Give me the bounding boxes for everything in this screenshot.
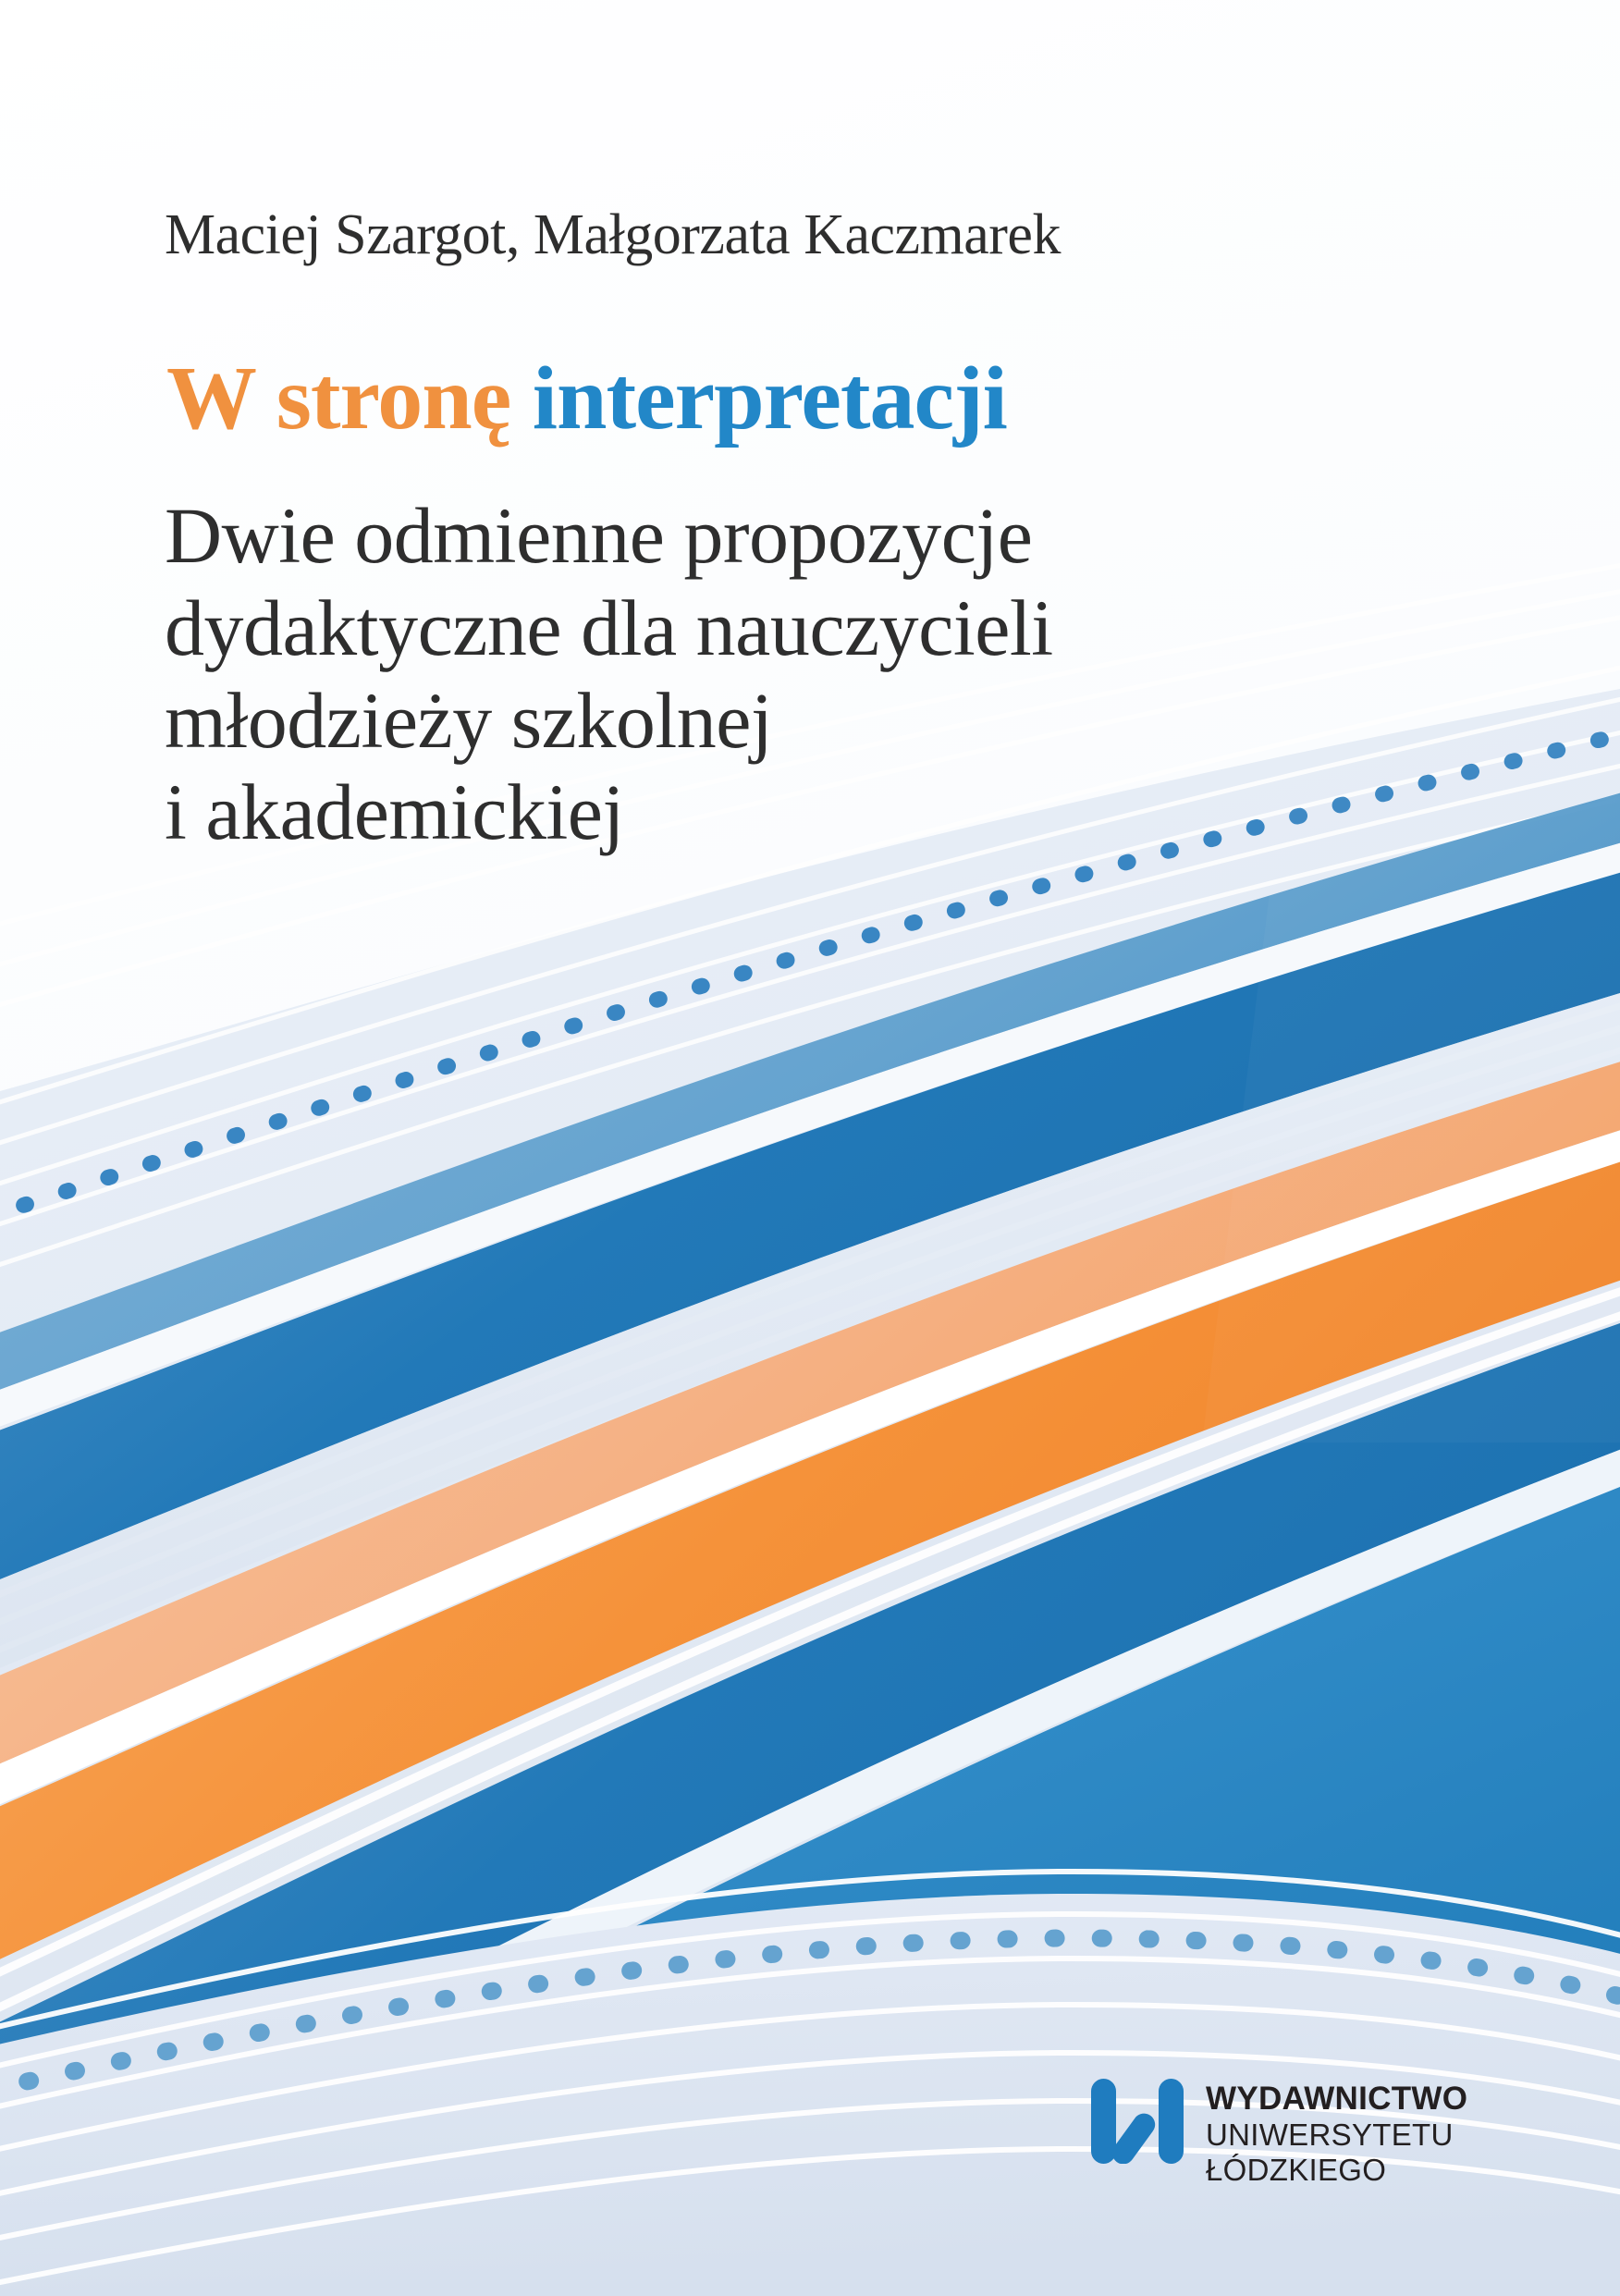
publisher-line-3: ŁÓDZKIEGO	[1206, 2153, 1467, 2188]
book-title: W stronę interpretacji	[166, 353, 1007, 444]
publisher-line-2: UNIWERSYTETU	[1206, 2118, 1467, 2153]
title-part-orange: W stronę	[166, 349, 510, 448]
publisher-name: WYDAWNICTWO UNIWERSYTETU ŁÓDZKIEGO	[1206, 2079, 1467, 2187]
subtitle-line-2: dydaktyczne dla nauczycieli	[165, 583, 1053, 675]
book-subtitle: Dwie odmienne propozycje dydaktyczne dla…	[165, 490, 1053, 859]
publisher-block: WYDAWNICTWO UNIWERSYTETU ŁÓDZKIEGO	[1089, 2079, 1467, 2187]
wydawnictwo-uniwersytetu-lodzkiego-logo-icon	[1089, 2079, 1185, 2164]
subtitle-line-3: młodzieży szkolnej	[165, 675, 1053, 767]
publisher-line-1: WYDAWNICTWO	[1206, 2081, 1467, 2118]
authors-line: Maciej Szargot, Małgorzata Kaczmarek	[165, 205, 1061, 265]
book-cover: Maciej Szargot, Małgorzata Kaczmarek W s…	[0, 0, 1620, 2296]
subtitle-line-1: Dwie odmienne propozycje	[165, 490, 1053, 583]
subtitle-line-4: i akademickiej	[165, 767, 1053, 859]
title-part-blue: interpretacji	[533, 349, 1007, 448]
cover-text-layer: Maciej Szargot, Małgorzata Kaczmarek W s…	[0, 0, 1620, 2296]
